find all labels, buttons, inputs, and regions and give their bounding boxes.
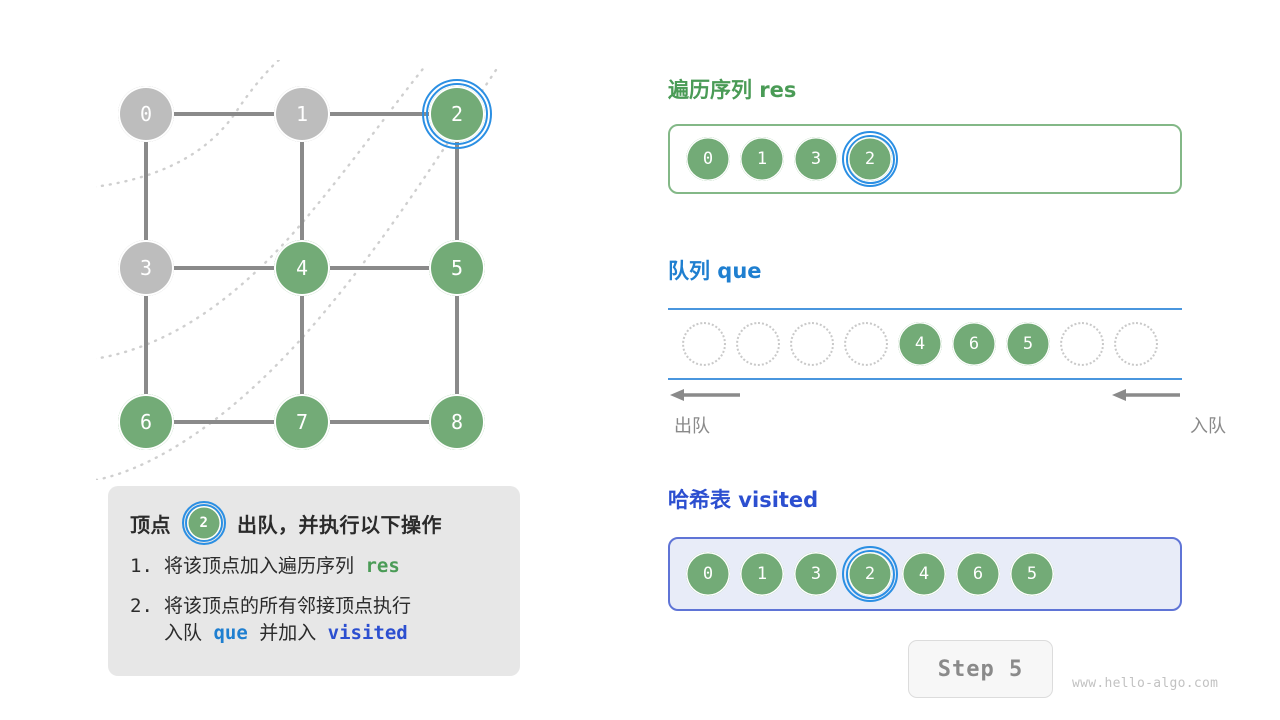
caption-step-1-pre: 将该顶点加入遍历序列 <box>164 555 365 577</box>
enqueue-label: 入队 <box>1190 412 1226 438</box>
res-item-label: 3 <box>794 137 838 181</box>
caption-step-1-text: 将该顶点加入遍历序列 res <box>164 554 498 580</box>
graph-node-6[interactable]: 6 <box>118 394 174 450</box>
que-container: 4 6 5 <box>668 308 1182 380</box>
graph-node-3-label: 3 <box>118 240 174 296</box>
que-slot-label: 5 <box>1006 322 1050 366</box>
que-slot-empty[interactable] <box>1114 322 1158 366</box>
que-slot-label <box>736 322 780 366</box>
caption-step-2-continued: 入队 que 并加入 visited <box>130 621 498 647</box>
caption-step-2-cont-mid: 并加入 <box>248 622 328 644</box>
visited-item[interactable]: 6 <box>956 552 1000 596</box>
res-item[interactable]: 1 <box>740 137 784 181</box>
res-item-label: 2 <box>848 137 892 181</box>
que-slot-empty[interactable] <box>790 322 834 366</box>
res-item[interactable]: 0 <box>686 137 730 181</box>
step-badge: Step 5 <box>908 640 1053 698</box>
que-slot-filled[interactable]: 5 <box>1006 322 1050 366</box>
visited-item-label: 2 <box>848 552 892 596</box>
graph-node-3[interactable]: 3 <box>118 240 174 296</box>
que-slot-label <box>790 322 834 366</box>
que-direction-arrows <box>668 386 1182 404</box>
caption-prefix: 顶点 <box>130 509 171 538</box>
res-section-title: 遍历序列 res <box>668 74 796 104</box>
graph-node-5[interactable]: 5 <box>429 240 485 296</box>
graph-node-8-label: 8 <box>429 394 485 450</box>
caption-step-1: 1. 将该顶点加入遍历序列 res <box>130 554 498 580</box>
graph-node-2-label: 2 <box>429 86 485 142</box>
caption-step-2-keyword-visited: visited <box>328 622 408 644</box>
que-section-title: 队列 que <box>668 255 762 285</box>
graph-node-0[interactable]: 0 <box>118 86 174 142</box>
que-slot-label <box>844 322 888 366</box>
que-slot-filled[interactable]: 6 <box>952 322 996 366</box>
graph-panel: 0 1 2 3 4 5 6 7 8 <box>96 60 536 480</box>
caption-step-2-keyword-que: que <box>213 622 247 644</box>
que-slot-row: 4 6 5 <box>682 308 1182 380</box>
visited-container: 0 1 3 2 4 6 5 <box>668 537 1182 611</box>
que-slot-empty[interactable] <box>844 322 888 366</box>
que-slot-empty[interactable] <box>736 322 780 366</box>
illustration-canvas: 0 1 2 3 4 5 6 7 8 顶点 2 出队，并执行以下操作 1. 将该顶… <box>0 0 1280 720</box>
visited-item-current[interactable]: 2 <box>848 552 892 596</box>
graph-node-2[interactable]: 2 <box>429 86 485 142</box>
caption-headline: 顶点 2 出队，并执行以下操作 <box>130 506 498 540</box>
caption-step-2: 2. 将该顶点的所有邻接顶点执行 <box>130 594 498 620</box>
que-slot-label <box>1114 322 1158 366</box>
visited-section-title: 哈希表 visited <box>668 484 818 514</box>
que-slot-label: 4 <box>898 322 942 366</box>
caption-step-1-number: 1. <box>130 554 164 580</box>
que-slot-label: 6 <box>952 322 996 366</box>
que-slot-empty[interactable] <box>1060 322 1104 366</box>
visited-item-label: 6 <box>956 552 1000 596</box>
que-slot-filled[interactable]: 4 <box>898 322 942 366</box>
visited-item-label: 5 <box>1010 552 1054 596</box>
res-item-label: 1 <box>740 137 784 181</box>
res-container: 0 1 3 2 <box>668 124 1182 194</box>
caption-step-2-cont-number <box>130 621 164 647</box>
visited-item[interactable]: 5 <box>1010 552 1054 596</box>
graph-node-5-label: 5 <box>429 240 485 296</box>
graph-node-6-label: 6 <box>118 394 174 450</box>
res-item-label: 0 <box>686 137 730 181</box>
graph-node-8[interactable]: 8 <box>429 394 485 450</box>
graph-node-1[interactable]: 1 <box>274 86 330 142</box>
visited-item[interactable]: 4 <box>902 552 946 596</box>
caption-node-label: 2 <box>187 506 221 540</box>
caption-box: 顶点 2 出队，并执行以下操作 1. 将该顶点加入遍历序列 res 2. 将该顶… <box>108 486 520 676</box>
res-item[interactable]: 3 <box>794 137 838 181</box>
caption-current-node: 2 <box>187 506 221 540</box>
caption-step-2-cont-text: 入队 que 并加入 visited <box>164 621 498 647</box>
visited-item-label: 3 <box>794 552 838 596</box>
visited-item[interactable]: 3 <box>794 552 838 596</box>
visited-item[interactable]: 1 <box>740 552 784 596</box>
graph-node-1-label: 1 <box>274 86 330 142</box>
graph-node-4[interactable]: 4 <box>274 240 330 296</box>
graph-node-7-label: 7 <box>274 394 330 450</box>
graph-node-0-label: 0 <box>118 86 174 142</box>
graph-node-7[interactable]: 7 <box>274 394 330 450</box>
caption-step-2-text: 将该顶点的所有邻接顶点执行 <box>164 594 498 620</box>
dequeue-label: 出队 <box>674 412 710 438</box>
graph-node-4-label: 4 <box>274 240 330 296</box>
que-slot-label <box>682 322 726 366</box>
que-slot-empty[interactable] <box>682 322 726 366</box>
caption-step-2-number: 2. <box>130 594 164 620</box>
caption-step-2-cont-pre: 入队 <box>164 622 213 644</box>
visited-item-label: 0 <box>686 552 730 596</box>
res-item-current[interactable]: 2 <box>848 137 892 181</box>
right-panel: 遍历序列 res 0 1 3 2 队列 que 4 6 5 <box>668 0 1228 720</box>
site-url: www.hello-algo.com <box>1072 676 1218 691</box>
visited-item-label: 1 <box>740 552 784 596</box>
que-slot-label <box>1060 322 1104 366</box>
caption-step-1-keyword-res: res <box>365 555 399 577</box>
visited-item[interactable]: 0 <box>686 552 730 596</box>
caption-suffix: 出队，并执行以下操作 <box>237 509 442 538</box>
visited-item-label: 4 <box>902 552 946 596</box>
